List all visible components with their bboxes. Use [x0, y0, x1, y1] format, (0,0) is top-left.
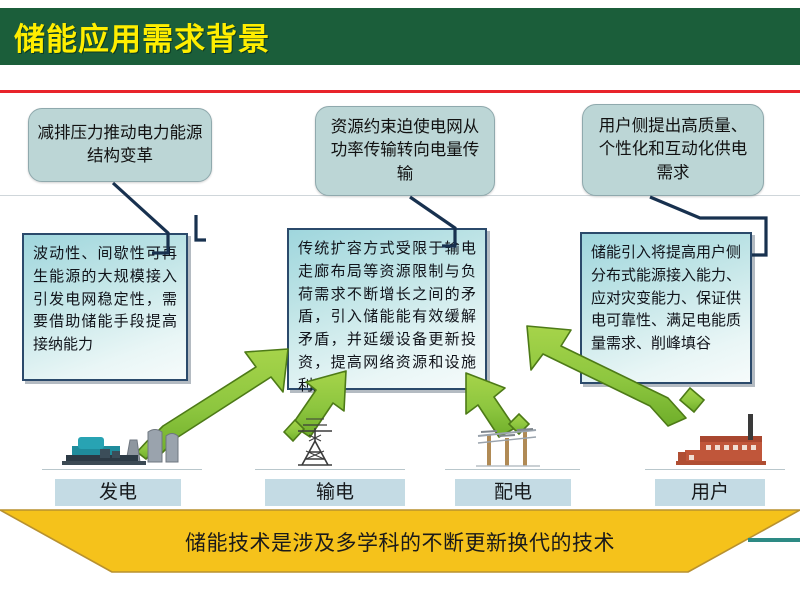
transmission-tower-icon — [298, 419, 332, 465]
driver-callout-resource-label: 资源约束迫使电网从功率传输转向电量传输 — [324, 116, 486, 186]
driver-callout-resource[interactable]: 资源约束迫使电网从功率传输转向电量传输 — [315, 106, 495, 196]
teal-accent-stub — [748, 538, 800, 542]
driver-callout-emission-label: 减排压力推动电力能源结构变革 — [37, 122, 203, 169]
panel-consumer-text: 储能引入将提高用户侧分布式能源接入能力、应对灾变能力、保证供电可靠性、满足电能质… — [591, 244, 741, 352]
stage-rule-generation — [42, 469, 202, 470]
title-accent-rule — [0, 90, 800, 93]
power-plant-icon — [62, 430, 178, 466]
panel-transmission-text: 传统扩容方式受限于输电走廊布局等资源限制与负荷需求不断增长之间的矛盾，引入储能能… — [298, 240, 476, 394]
slide-canvas: 储能应用需求背景 减排压力推动电力能源结构变革 资源约束迫使电网从功率传输转向电… — [0, 0, 800, 600]
stage-rule-transmission — [255, 469, 405, 470]
stage-rule-distribution — [445, 469, 580, 470]
stage-label-generation[interactable]: 发电 — [55, 478, 181, 506]
connector-left-bracket — [196, 215, 206, 240]
panel-generation[interactable]: 波动性、间歇性可再生能源的大规模接入引发电网稳定性，需要借助储能手段提高接纳能力 — [22, 233, 188, 381]
panel-generation-text: 波动性、间歇性可再生能源的大规模接入引发电网稳定性，需要借助储能手段提高接纳能力 — [33, 245, 177, 353]
stage-label-consumer[interactable]: 用户 — [655, 478, 765, 506]
driver-callout-emission[interactable]: 减排压力推动电力能源结构变革 — [28, 108, 212, 182]
panel-transmission[interactable]: 传统扩容方式受限于输电走廊布局等资源限制与负荷需求不断增长之间的矛盾，引入储能能… — [287, 228, 487, 390]
driver-callout-customer-label: 用户侧提出高质量、个性化和互动化供电需求 — [591, 115, 755, 185]
factory-building-icon — [676, 414, 766, 465]
panel-consumer[interactable]: 储能引入将提高用户侧分布式能源接入能力、应对灾变能力、保证供电可靠性、满足电能质… — [580, 232, 752, 384]
driver-callout-customer[interactable]: 用户侧提出高质量、个性化和互动化供电需求 — [582, 104, 764, 196]
stage-label-distribution[interactable]: 配电 — [455, 478, 571, 506]
bottom-banner-label: 储能技术是涉及多学科的不断更新换代的技术 — [0, 508, 800, 574]
slide-title-bar: 储能应用需求背景 — [0, 8, 800, 65]
distribution-pole-icon — [476, 429, 540, 466]
bottom-banner: 储能技术是涉及多学科的不断更新换代的技术 — [0, 508, 800, 574]
page-title: 储能应用需求背景 — [14, 14, 270, 59]
stage-label-transmission[interactable]: 输电 — [265, 478, 405, 506]
stage-rule-consumer — [645, 469, 785, 470]
